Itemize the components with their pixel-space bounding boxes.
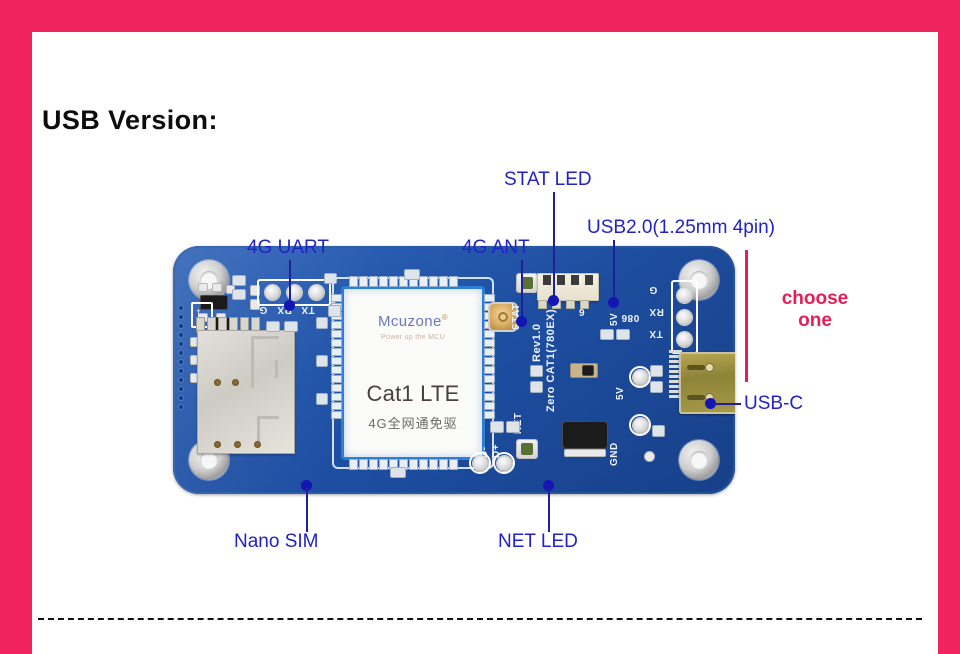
callout-net-led-label: NET LED [498, 532, 578, 551]
smd-pad [617, 330, 629, 339]
module-subtitle: 4G全网通免驱 [344, 413, 482, 432]
callout-usb20-dot [608, 297, 619, 308]
nano-sim-card-holder [197, 330, 295, 454]
smd-regulator [563, 422, 607, 448]
pcb-board: G RX TX AT Mcuzone® Power [173, 246, 735, 494]
smd-pad [317, 394, 327, 404]
callout-4g-uart-label: 4G UART [247, 238, 329, 257]
callout-usb20-label: USB2.0(1.25mm 4pin) [587, 218, 775, 237]
callout-net-led-leader [548, 488, 550, 532]
choose-one-line1: choose [782, 288, 849, 309]
pad-gnd[interactable] [629, 414, 651, 436]
callout-stat-led-dot [548, 295, 559, 306]
smd-pad [285, 322, 297, 331]
callout-usb-c-leader [713, 403, 741, 405]
callout-stat-led-label: STAT LED [504, 170, 592, 189]
uart-pad-tx[interactable] [309, 285, 324, 300]
module-brand: Mcuzone® [344, 313, 482, 330]
pad-dminus[interactable] [493, 452, 515, 474]
callout-usb20-leader [613, 240, 615, 302]
smd-part [199, 284, 207, 291]
pad-5v[interactable] [629, 366, 651, 388]
smd-pad [317, 318, 327, 328]
silk-right-rx: RX [649, 306, 664, 317]
smd-pad [531, 366, 542, 376]
pad-dplus[interactable] [469, 452, 491, 474]
smd-pad [405, 270, 419, 279]
smd-part [565, 450, 605, 456]
smd-pad [531, 382, 542, 392]
smd-pad [651, 366, 662, 376]
smd-pad [267, 322, 279, 331]
page-title: USB Version: [42, 105, 218, 136]
callout-4g-ant-leader [521, 260, 523, 322]
smd-part [213, 284, 221, 291]
module-shield-outline [332, 277, 494, 469]
smd-pad [507, 422, 519, 432]
module-pads-top [350, 277, 457, 286]
smd-pad [601, 330, 613, 339]
callout-4g-uart-dot [284, 300, 295, 311]
module-slogan: Power up the MCU [344, 334, 482, 341]
silk-rev-line2: Rev1.0 [531, 302, 543, 362]
smd-pad [329, 306, 340, 316]
callout-4g-ant-dot [516, 316, 527, 327]
net-led [517, 440, 537, 458]
usb2-jst-connector[interactable] [537, 273, 599, 301]
silk-rev-line1: Zero CAT1(780EX) [545, 302, 557, 412]
smd-pad [651, 382, 662, 392]
callout-usb-c-label: USB-C [744, 394, 803, 413]
silk-uart-g: G [259, 304, 267, 315]
module-brand-mark: ® [442, 313, 448, 322]
smd-pad [233, 290, 245, 299]
uart-pad-g[interactable] [265, 285, 280, 300]
right-pad-rx[interactable] [677, 310, 692, 325]
smd-pad [653, 426, 664, 436]
silk-pin9: 9 [579, 308, 585, 319]
module-title: Cat1 LTE [344, 381, 482, 407]
smd-pad [491, 422, 503, 432]
choose-one-line2: one [798, 310, 832, 331]
silk-gnd: GND [609, 430, 620, 466]
module-brand-text: Mcuzone [378, 313, 442, 330]
silk-right-g: G [649, 284, 657, 295]
callout-nano-sim-label: Nano SIM [234, 532, 318, 551]
callout-4g-ant-label: 4G ANT [462, 238, 530, 257]
mounting-hole-bottom-right [679, 440, 719, 480]
stat-led [517, 274, 537, 292]
via-column-left [179, 306, 183, 409]
smd-pad [233, 276, 245, 285]
content-sheet: USB Version: [32, 32, 938, 654]
smd-pad [317, 356, 327, 366]
mounting-hole-top-left [189, 260, 229, 300]
right-pad-tx[interactable] [677, 332, 692, 347]
callout-stat-led-leader [553, 192, 555, 299]
choose-one-bracket [745, 250, 748, 382]
silk-right-tx: TX [649, 328, 663, 339]
silk-uart-tx: TX [301, 304, 315, 315]
section-divider [38, 618, 922, 620]
silk-5v: 5V [615, 374, 626, 400]
smd-part [645, 452, 654, 461]
smd-part [583, 366, 593, 375]
smd-pad [391, 468, 405, 477]
right-pad-g[interactable] [677, 288, 692, 303]
smd-pad [325, 274, 336, 283]
right-pin-header[interactable] [671, 280, 698, 354]
callout-nano-sim-leader [306, 488, 308, 532]
choose-one-label: choose one [760, 288, 870, 333]
silk-usb-num: 086 [621, 312, 639, 323]
cat1-lte-module: Mcuzone® Power up the MCU Cat1 LTE 4G全网通… [341, 286, 485, 460]
